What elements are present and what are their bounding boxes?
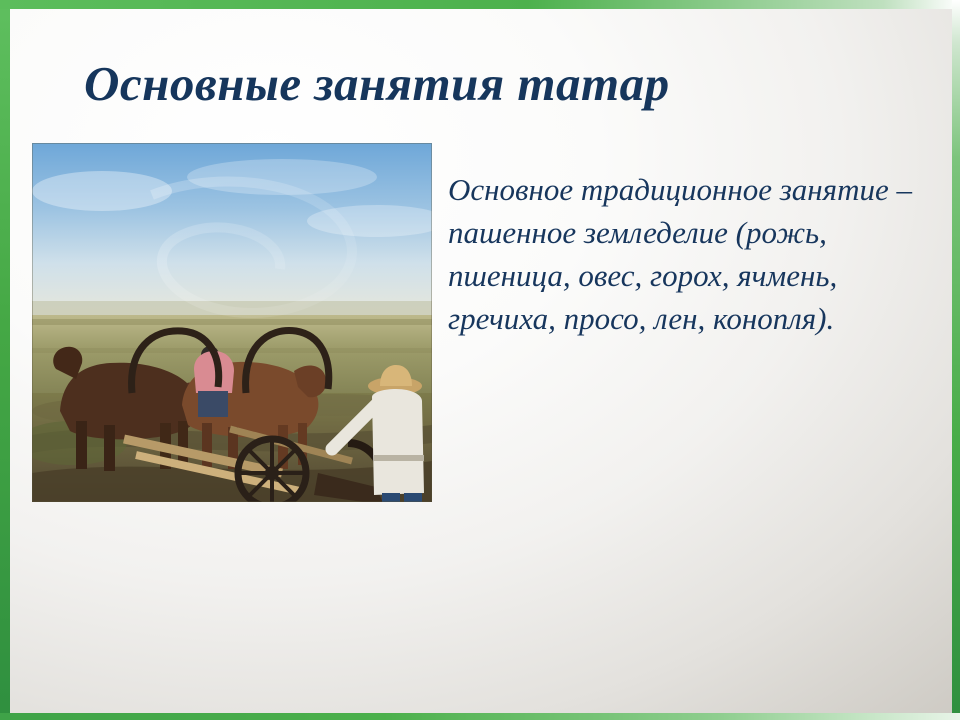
slide-border-top [0,0,960,9]
slide-body-text: Основное традиционное занятие – пашенное… [448,168,942,340]
slide-title: Основные занятия татар [84,58,670,109]
slide: Основные занятия татар [0,0,960,720]
slide-border-right [952,0,960,720]
slide-border-left [0,0,10,720]
slide-border-bottom [0,713,960,720]
photo-plowing-field [32,143,432,502]
